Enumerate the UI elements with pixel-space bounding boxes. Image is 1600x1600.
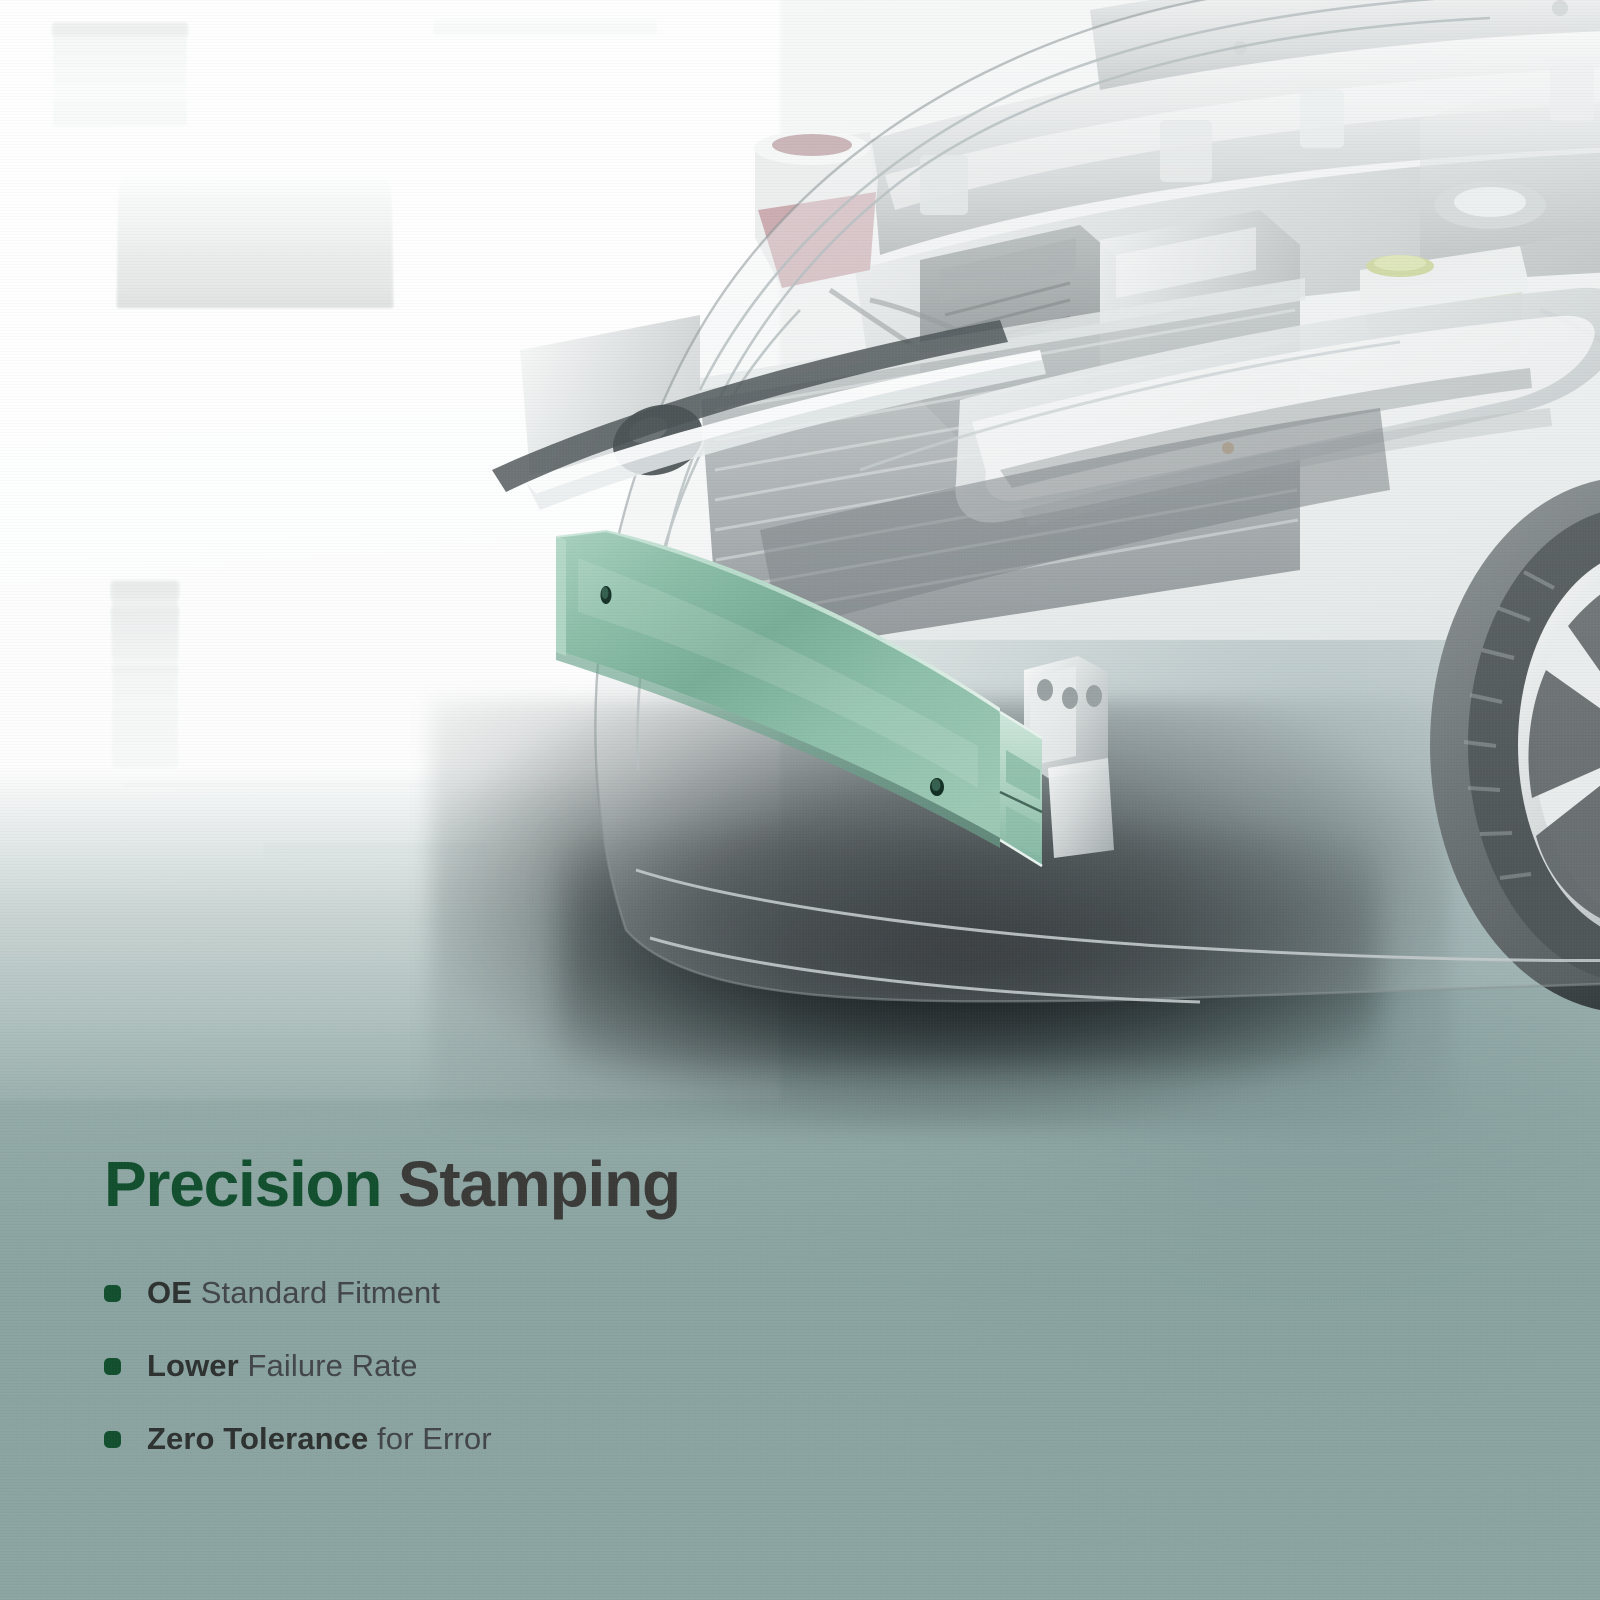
list-item: Lower Failure Rate bbox=[104, 1348, 1104, 1384]
square-bullet-icon bbox=[104, 1358, 121, 1375]
bullet-strong: OE bbox=[147, 1275, 192, 1310]
bullet-rest: for Error bbox=[368, 1421, 491, 1456]
copy-block: Precision Stamping OE Standard Fitment L… bbox=[104, 1150, 1104, 1457]
square-bullet-icon bbox=[104, 1431, 121, 1448]
bullet-strong: Lower bbox=[147, 1348, 239, 1383]
list-item: Zero Tolerance for Error bbox=[104, 1421, 1104, 1457]
headline-accent: Precision bbox=[104, 1148, 381, 1220]
square-bullet-icon bbox=[104, 1285, 121, 1302]
list-item: OE Standard Fitment bbox=[104, 1275, 1104, 1311]
bullet-rest: Standard Fitment bbox=[192, 1275, 440, 1310]
bumper-reinforcement-beam bbox=[548, 500, 1158, 870]
bullet-rest: Failure Rate bbox=[239, 1348, 418, 1383]
promo-banner: Precision Stamping OE Standard Fitment L… bbox=[0, 0, 1600, 1600]
headline-rest: Stamping bbox=[381, 1148, 680, 1220]
beam-cross-section bbox=[1000, 712, 1042, 866]
feature-list: OE Standard Fitment Lower Failure Rate Z… bbox=[104, 1275, 1104, 1457]
page-title: Precision Stamping bbox=[104, 1150, 1104, 1219]
bullet-strong: Zero Tolerance bbox=[147, 1421, 368, 1456]
